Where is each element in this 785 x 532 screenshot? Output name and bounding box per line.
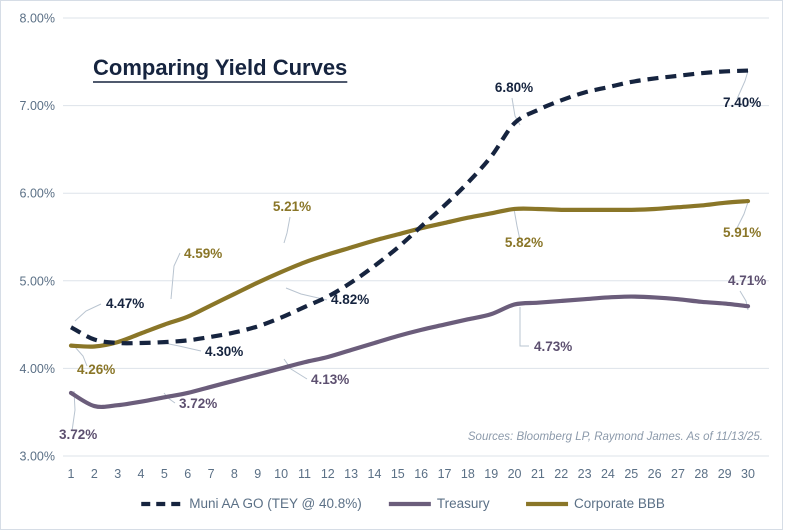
- x-axis-tick-label: 23: [578, 467, 592, 481]
- x-axis-tick-label: 27: [671, 467, 685, 481]
- legend-label: Muni AA GO (TEY @ 40.8%): [189, 496, 362, 511]
- legend-item-muni[interactable]: Muni AA GO (TEY @ 40.8%): [141, 496, 362, 511]
- x-axis-tick-label: 28: [694, 467, 708, 481]
- data-label: 4.13%: [311, 372, 349, 387]
- data-label: 4.71%: [728, 273, 766, 288]
- x-axis-tick-label: 26: [648, 467, 662, 481]
- data-label-leader-lines: [72, 71, 748, 431]
- y-axis-tick-label: 5.00%: [20, 274, 55, 288]
- series-line-treasury: [71, 297, 748, 407]
- data-label: 5.91%: [723, 225, 761, 240]
- legend-label: Treasury: [437, 496, 490, 511]
- page-title: Comparing Yield Curves: [93, 55, 347, 80]
- data-label: 4.73%: [534, 339, 572, 354]
- x-axis-tick-label: 9: [254, 467, 261, 481]
- x-axis-tick-label: 7: [208, 467, 215, 481]
- x-axis-tick-label: 22: [554, 467, 568, 481]
- data-label: 4.30%: [205, 344, 243, 359]
- data-label-leader: [171, 253, 180, 299]
- x-axis-tick-label: 8: [231, 467, 238, 481]
- data-label-leader: [520, 307, 529, 346]
- x-axis-tick-label: 3: [114, 467, 121, 481]
- legend-item-treasury[interactable]: Treasury: [389, 496, 490, 511]
- series-lines: [71, 71, 748, 407]
- x-axis-tick-label: 12: [321, 467, 335, 481]
- chart-container: 8.00%7.00%6.00%5.00%4.00%3.00% 123456789…: [0, 0, 783, 530]
- x-axis-tick-label: 21: [531, 467, 545, 481]
- chart-title-group: Comparing Yield Curves: [93, 55, 347, 82]
- x-axis-tick-label: 10: [274, 467, 288, 481]
- x-axis-tick-label: 19: [484, 467, 498, 481]
- data-label: 7.40%: [723, 95, 761, 110]
- x-axis-tick-label: 25: [624, 467, 638, 481]
- data-label-leader: [75, 304, 101, 321]
- x-axis-tick-label: 11: [298, 467, 311, 481]
- x-axis-tick-label: 24: [601, 467, 615, 481]
- y-axis-tick-label: 8.00%: [20, 12, 55, 26]
- data-label-leader: [164, 343, 201, 351]
- legend-item-corporate[interactable]: Corporate BBB: [526, 496, 665, 511]
- source-note: Sources: Bloomberg LP, Raymond James. As…: [468, 431, 763, 443]
- data-label: 5.82%: [505, 235, 543, 250]
- series-line-corporate: [71, 201, 748, 347]
- x-axis-tick-label: 2: [91, 467, 98, 481]
- x-axis-tick-labels: 1234567891011121314151617181920212223242…: [68, 467, 755, 481]
- gridlines: [63, 18, 769, 456]
- x-axis-tick-label: 1: [68, 467, 75, 481]
- y-axis-tick-label: 3.00%: [20, 450, 55, 464]
- y-axis-tick-label: 7.00%: [20, 99, 55, 113]
- data-label: 3.72%: [59, 427, 97, 442]
- yield-curve-chart: 8.00%7.00%6.00%5.00%4.00%3.00% 123456789…: [1, 1, 784, 531]
- data-label: 4.47%: [106, 296, 144, 311]
- data-label: 4.26%: [77, 362, 115, 377]
- y-axis-tick-label: 6.00%: [20, 187, 55, 201]
- x-axis-tick-label: 5: [161, 467, 168, 481]
- data-label-leader: [284, 217, 290, 243]
- chart-legend: Muni AA GO (TEY @ 40.8%)TreasuryCorporat…: [141, 496, 665, 511]
- data-label: 5.21%: [273, 199, 311, 214]
- x-axis-tick-label: 15: [391, 467, 405, 481]
- x-axis-tick-label: 16: [414, 467, 428, 481]
- data-labels: 4.47%4.30%4.82%6.80%7.40%4.26%4.59%5.21%…: [59, 80, 766, 442]
- x-axis-tick-label: 30: [741, 467, 755, 481]
- x-axis-tick-label: 20: [508, 467, 522, 481]
- data-label: 4.82%: [331, 292, 369, 307]
- x-axis-tick-label: 4: [138, 467, 145, 481]
- x-axis-tick-label: 6: [184, 467, 191, 481]
- y-axis-tick-labels: 8.00%7.00%6.00%5.00%4.00%3.00%: [20, 12, 55, 464]
- data-label: 4.59%: [184, 246, 222, 261]
- x-axis-tick-label: 14: [368, 467, 382, 481]
- data-label: 3.72%: [179, 396, 217, 411]
- x-axis-tick-label: 17: [438, 467, 452, 481]
- y-axis-tick-label: 4.00%: [20, 362, 55, 376]
- x-axis-tick-label: 13: [344, 467, 358, 481]
- x-axis-tick-label: 18: [461, 467, 475, 481]
- series-line-muni: [71, 71, 748, 344]
- x-axis-tick-label: 29: [718, 467, 732, 481]
- legend-label: Corporate BBB: [574, 496, 665, 511]
- data-label: 6.80%: [495, 80, 533, 95]
